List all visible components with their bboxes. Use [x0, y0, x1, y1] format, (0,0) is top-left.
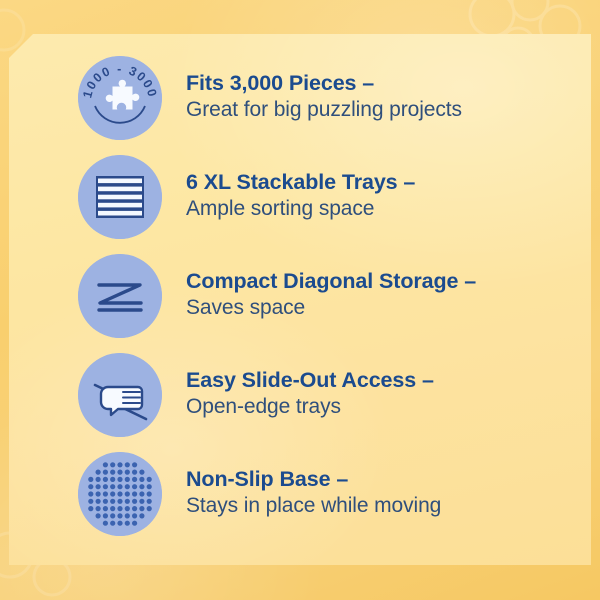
feature-text: 6 XL Stackable Trays – Ample sorting spa…: [186, 170, 576, 223]
feature-item: Easy Slide-Out Access – Open-edge trays: [78, 345, 576, 444]
stacked-trays-icon: [78, 155, 162, 239]
puzzle-piece-count-icon: 1000 - 3000: [78, 56, 162, 140]
feature-poster: 1000 - 3000 Fits 3,000 Pieces – Great fo…: [0, 0, 600, 600]
feature-title: Compact Diagonal Storage –: [186, 269, 576, 294]
dotted-grip-base-icon: [78, 452, 162, 536]
feature-subtitle: Great for big puzzling projects: [186, 98, 576, 122]
feature-subtitle: Open-edge trays: [186, 395, 576, 419]
feature-subtitle: Stays in place while moving: [186, 494, 576, 518]
feature-subtitle: Ample sorting space: [186, 197, 576, 221]
feature-text: Easy Slide-Out Access – Open-edge trays: [186, 368, 576, 421]
feature-title: Fits 3,000 Pieces –: [186, 71, 576, 96]
feature-subtitle: Saves space: [186, 296, 576, 320]
diagonal-zigzag-icon: [78, 254, 162, 338]
feature-title: Non-Slip Base –: [186, 467, 576, 492]
feature-title: 6 XL Stackable Trays –: [186, 170, 576, 195]
feature-text: Compact Diagonal Storage – Saves space: [186, 269, 576, 322]
feature-text: Fits 3,000 Pieces – Great for big puzzli…: [186, 71, 576, 124]
feature-item: 6 XL Stackable Trays – Ample sorting spa…: [78, 147, 576, 246]
feature-item: 1000 - 3000 Fits 3,000 Pieces – Great fo…: [78, 48, 576, 147]
feature-title: Easy Slide-Out Access –: [186, 368, 576, 393]
hand-slide-out-tray-icon: [78, 353, 162, 437]
feature-item: Compact Diagonal Storage – Saves space: [78, 246, 576, 345]
feature-list: 1000 - 3000 Fits 3,000 Pieces – Great fo…: [0, 0, 600, 600]
feature-text: Non-Slip Base – Stays in place while mov…: [186, 467, 576, 520]
feature-item: Non-Slip Base – Stays in place while mov…: [78, 444, 576, 543]
